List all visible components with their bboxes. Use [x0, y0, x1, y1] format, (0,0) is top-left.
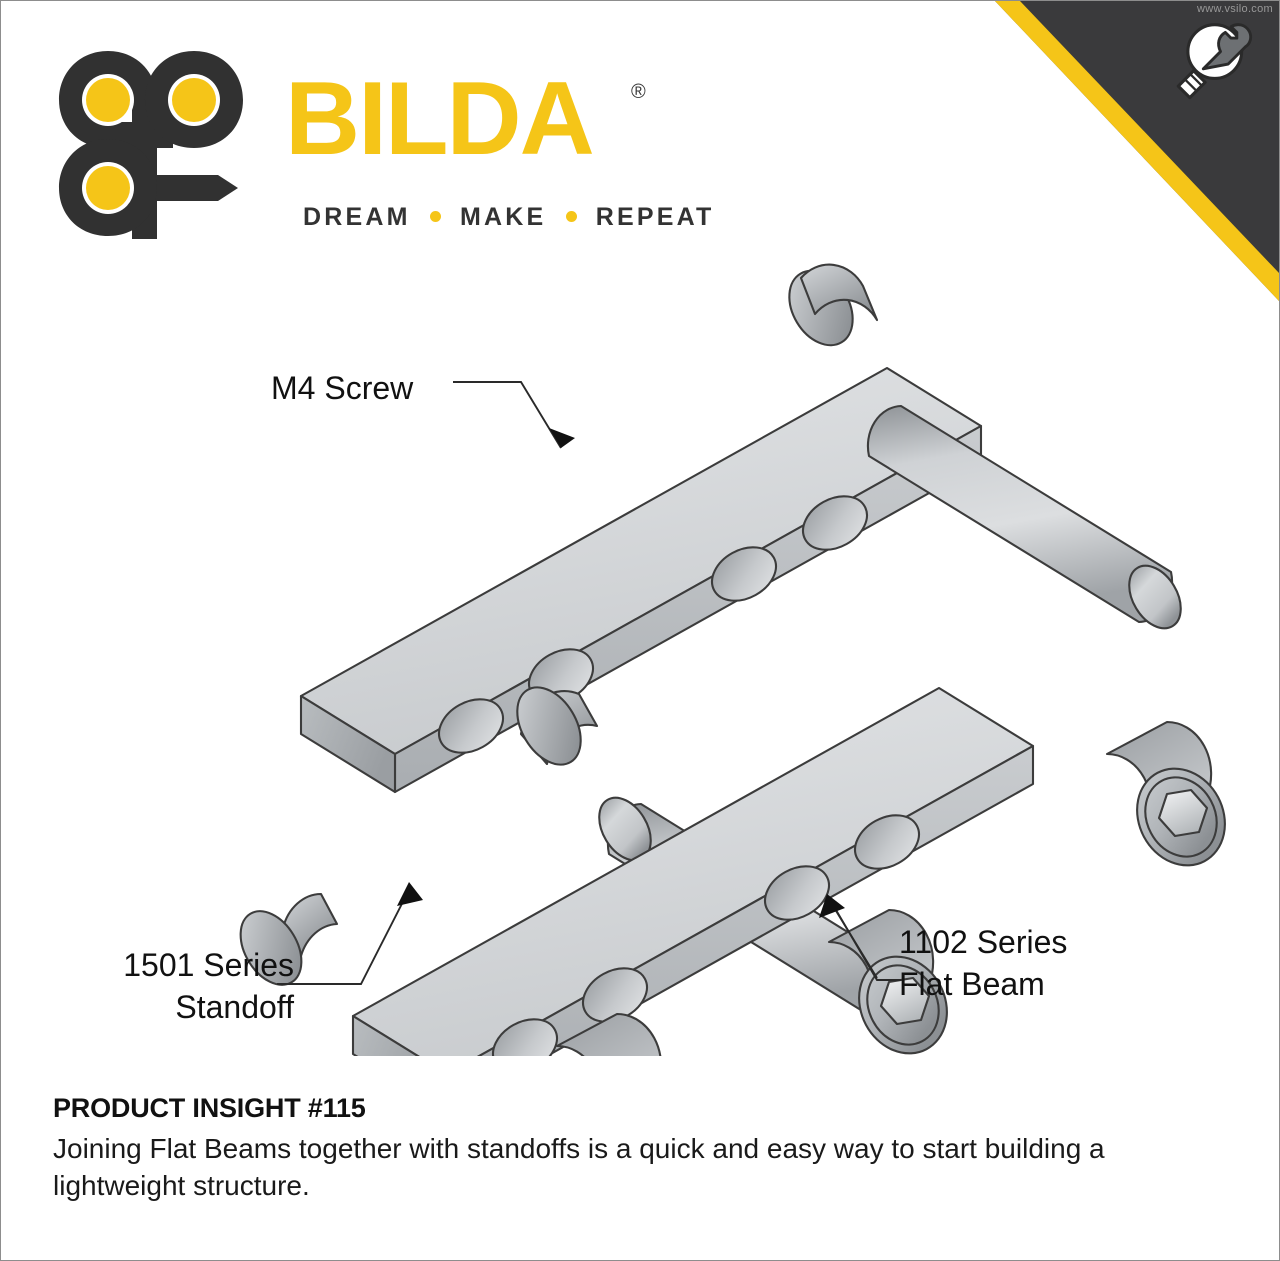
watermark-text: www.vsilo.com [1197, 3, 1273, 15]
registered-trademark-symbol: ® [631, 81, 646, 104]
tagline-dot-icon [566, 211, 577, 222]
insight-body: Joining Flat Beams together with standof… [53, 1131, 1233, 1205]
insight-footer: PRODUCT INSIGHT #115 Joining Flat Beams … [53, 1093, 1233, 1205]
tagline-word-1: DREAM [303, 203, 411, 231]
callout-m4-screw-label: M4 Screw [271, 370, 413, 406]
insight-title: PRODUCT INSIGHT #115 [53, 1093, 1233, 1124]
callout-m4-screw: M4 Screw [271, 367, 413, 409]
standoff-upper-right [868, 406, 1191, 637]
logo-wordmark: BILDA [285, 67, 593, 171]
callout-standoff: 1501 Series Standoff [49, 944, 294, 1028]
tagline-word-3: REPEAT [596, 203, 715, 231]
m4-screw-top-far [776, 259, 877, 356]
m4-screw-right [1107, 722, 1242, 881]
leader-m4-screw [453, 382, 561, 448]
callout-flat-beam: 1102 Series Flat Beam [899, 921, 1067, 1005]
tagline-word-2: MAKE [460, 203, 546, 231]
arrowhead-m4-screw [549, 428, 575, 448]
gobilda-loop-mark-icon [53, 43, 243, 239]
product-insight-card: BILDA ® DREAM MAKE REPEAT [0, 0, 1280, 1261]
callout-standoff-line1: 1501 Series [49, 944, 294, 986]
callout-flat-beam-line2: Flat Beam [899, 963, 1067, 1005]
tagline-dot-icon [430, 211, 441, 222]
arrowhead-standoff [397, 882, 423, 906]
callout-flat-beam-line1: 1102 Series [899, 921, 1067, 963]
gobilda-logo: BILDA ® DREAM MAKE REPEAT [53, 43, 653, 243]
assembly-illustration [1, 256, 1279, 1056]
callout-standoff-line2: Standoff [49, 986, 294, 1028]
lightbulb-wrench-icon [1161, 17, 1257, 113]
logo-tagline: DREAM MAKE REPEAT [303, 203, 714, 232]
